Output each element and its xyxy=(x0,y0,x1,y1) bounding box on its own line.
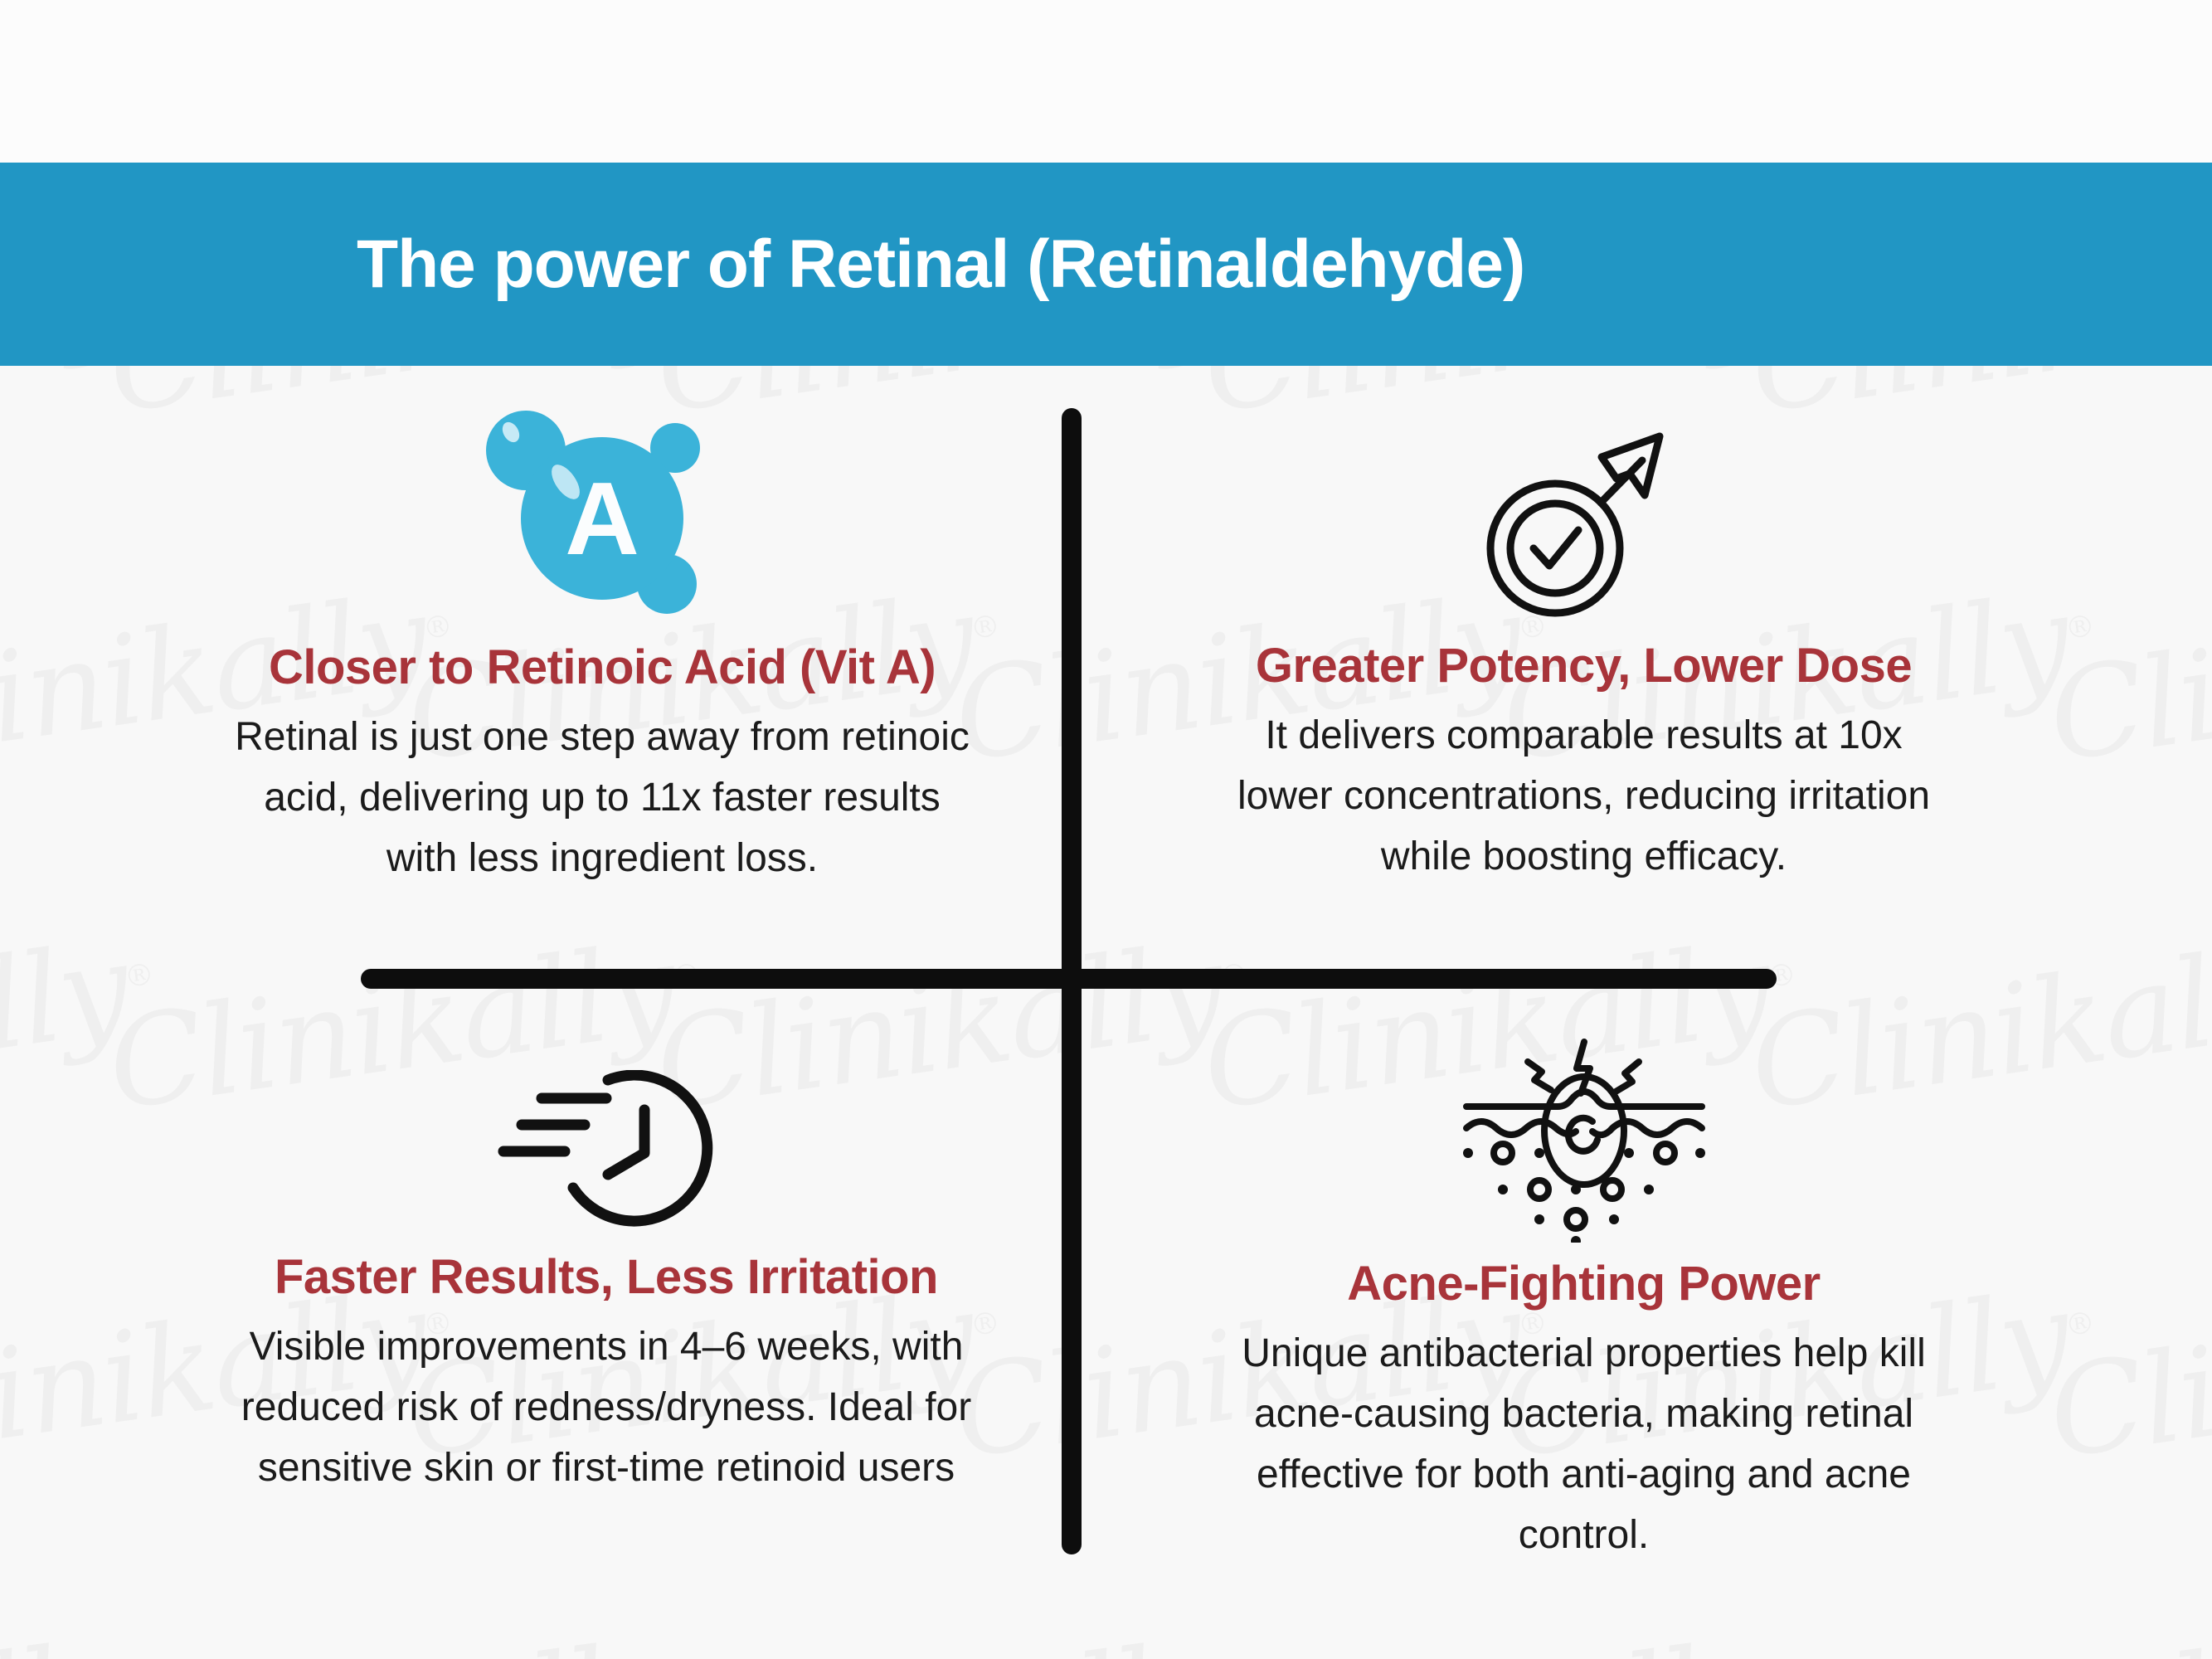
top-white-strip xyxy=(0,0,2212,163)
quadrant-faster-results-less-irritation: Faster Results, Less Irritation Visible … xyxy=(0,979,1072,1659)
fast-clock-icon xyxy=(482,1070,731,1236)
quadrant-grid: A Closer to Retinoic Acid (Vit A) Retina… xyxy=(0,366,2212,1659)
quadrant-closer-to-retinoic-acid: A Closer to Retinoic Acid (Vit A) Retina… xyxy=(0,366,1072,979)
card-body: Unique antibacterial properties help kil… xyxy=(1198,1324,1970,1566)
card-title: Greater Potency, Lower Dose xyxy=(1256,640,1912,693)
page-title: The power of Retinal (Retinaldehyde) xyxy=(357,231,1524,299)
card-body: Visible improvements in 4–6 weeks, with … xyxy=(233,1317,980,1499)
potency-male-symbol-check-arrow-icon xyxy=(1472,409,1696,625)
card-body: Retinal is just one step away from retin… xyxy=(229,708,975,889)
card-body: It delivers comparable results at 10x lo… xyxy=(1219,706,1949,888)
svg-text:A: A xyxy=(565,462,639,577)
card-title: Closer to Retinoic Acid (Vit A) xyxy=(269,641,936,694)
quadrant-greater-potency-lower-dose: Greater Potency, Lower Dose It delivers … xyxy=(1072,366,2212,979)
title-banner: The power of Retinal (Retinaldehyde) xyxy=(0,163,2212,366)
vitamin-a-molecule-icon: A xyxy=(478,402,727,626)
card-title: Faster Results, Less Irritation xyxy=(275,1251,938,1304)
infographic-canvas: Clinikally®Clinikally®Clinikally®Clinika… xyxy=(0,0,2212,1659)
quadrant-acne-fighting-power: Acne-Fighting Power Unique antibacterial… xyxy=(1072,979,2212,1659)
card-title: Acne-Fighting Power xyxy=(1347,1258,1821,1311)
acne-skin-pimple-icon xyxy=(1460,1035,1709,1243)
